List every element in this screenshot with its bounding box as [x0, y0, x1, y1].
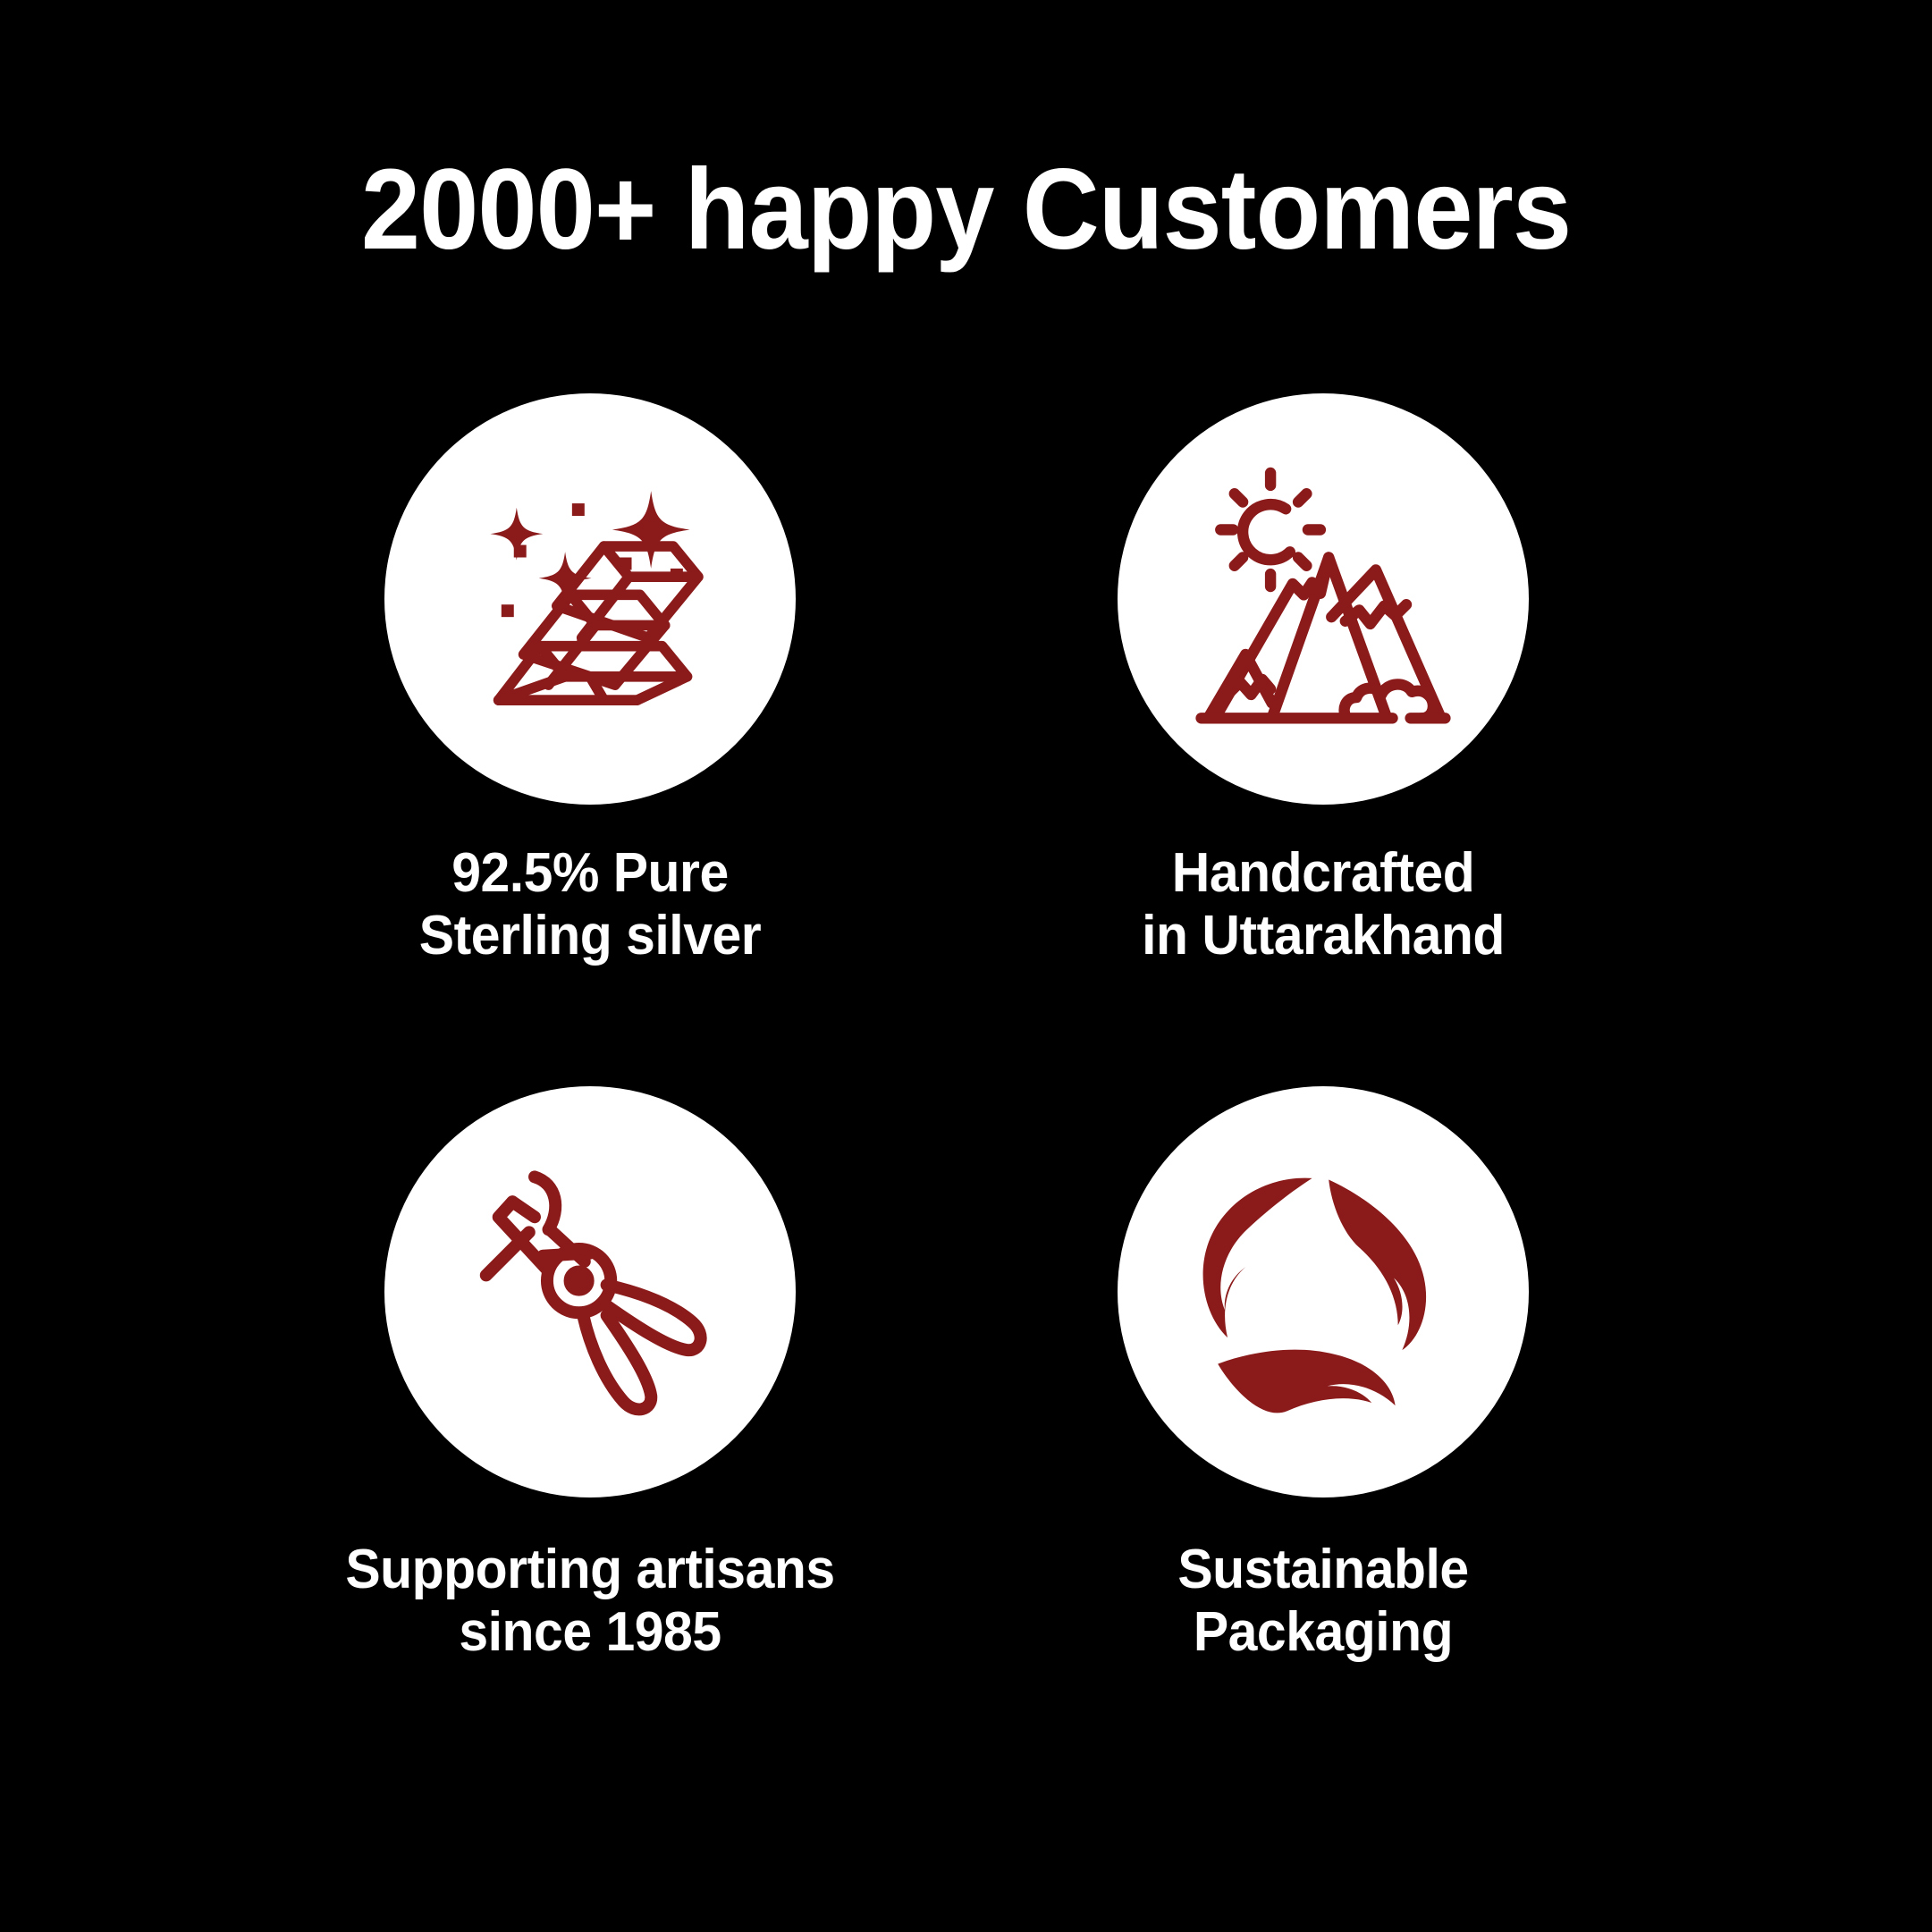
- caption-line-1: 92.5% Pure: [242, 842, 939, 905]
- feature-item-sustainable: Sustainable Packaging: [957, 1086, 1690, 1664]
- feature-item-artisans: Supporting artisans since 1985: [224, 1086, 957, 1664]
- caption-line-2: Packaging: [975, 1601, 1672, 1664]
- page-title: 2000+ happy Customers: [68, 150, 1865, 270]
- caption-line-1: Supporting artisans: [242, 1539, 939, 1601]
- caption-line-2: since 1985: [242, 1601, 939, 1664]
- promo-banner: 2000+ happy Customers: [0, 0, 1932, 1932]
- feature-icon-badge: [384, 393, 796, 805]
- silver-bars-sparkle-icon: [451, 460, 729, 738]
- feature-icon-badge: [1118, 393, 1529, 805]
- feature-caption: Supporting artisans since 1985: [242, 1539, 939, 1664]
- caption-line-2: in Uttarakhand: [975, 905, 1672, 967]
- caption-line-1: Sustainable: [975, 1539, 1672, 1601]
- feature-icon-badge: [1118, 1086, 1529, 1498]
- feature-item-silver: 92.5% Pure Sterling silver: [224, 393, 957, 967]
- three-leaves-recycle-icon: [1185, 1153, 1462, 1430]
- caption-line-1: Handcrafted: [975, 842, 1672, 905]
- feature-caption: Sustainable Packaging: [975, 1539, 1672, 1664]
- caption-line-2: Sterling silver: [242, 905, 939, 967]
- feature-caption: 92.5% Pure Sterling silver: [242, 842, 939, 967]
- mountains-sun-icon: [1185, 460, 1462, 738]
- feature-item-handcrafted: Handcrafted in Uttarakhand: [957, 393, 1690, 967]
- feature-icon-badge: [384, 1086, 796, 1498]
- feature-caption: Handcrafted in Uttarakhand: [975, 842, 1672, 967]
- pliers-tool-icon: [451, 1153, 729, 1430]
- feature-grid: 92.5% Pure Sterling silver: [0, 393, 1932, 1869]
